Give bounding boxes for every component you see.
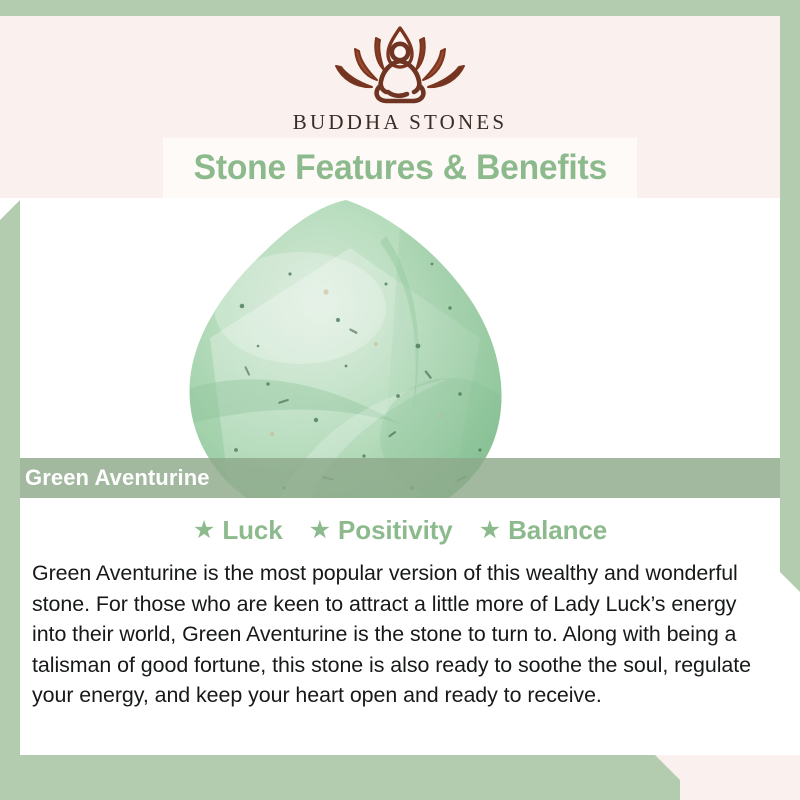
title-banner: Stone Features & Benefits	[163, 138, 637, 198]
frame-left-bar	[0, 200, 20, 800]
page-title: Stone Features & Benefits	[193, 148, 606, 188]
frame-bottom-bar	[0, 755, 800, 800]
benefit-item-luck: ★ Luck	[193, 515, 283, 546]
brand-name: BUDDHA STONES	[293, 110, 508, 135]
green-aventurine-stone-image	[150, 198, 550, 498]
lotus-meditation-figure-icon	[314, 22, 486, 106]
brand-logo: BUDDHA STONES	[0, 22, 800, 135]
benefit-label: Balance	[508, 515, 607, 546]
benefit-item-balance: ★ Balance	[479, 515, 607, 546]
frame-top-bar	[0, 0, 800, 16]
benefits-row: ★ Luck ★ Positivity ★ Balance	[0, 498, 800, 546]
infographic-page: BUDDHA STONES Stone Features & Benefits	[0, 0, 800, 800]
star-icon: ★	[479, 518, 501, 543]
frame-right-bar	[780, 0, 800, 592]
benefit-label: Luck	[222, 515, 282, 546]
product-photo-area: Green Aventurine	[0, 198, 800, 498]
star-icon: ★	[193, 518, 215, 543]
stone-label-bar: Green Aventurine	[0, 458, 800, 498]
description-text: Green Aventurine is the most popular ver…	[32, 558, 770, 711]
benefit-item-positivity: ★ Positivity	[309, 515, 453, 546]
benefit-label: Positivity	[338, 515, 453, 546]
stone-label: Green Aventurine	[0, 465, 210, 491]
star-icon: ★	[309, 518, 331, 543]
description-section: ★ Luck ★ Positivity ★ Balance Green Aven…	[0, 498, 800, 755]
